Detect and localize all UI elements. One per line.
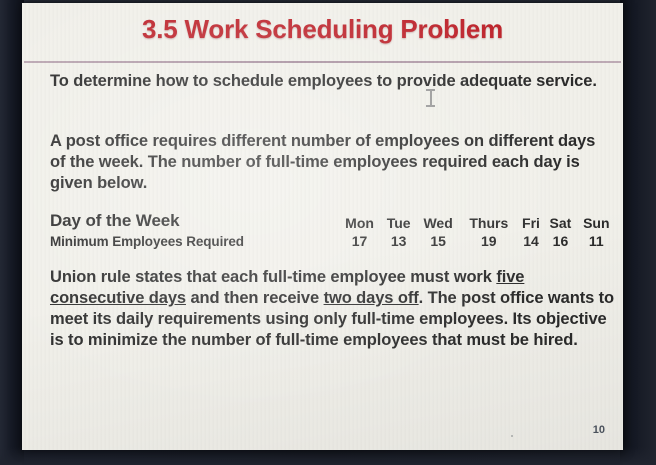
value-sun: 11 <box>577 233 616 249</box>
paragraph-intro: To determine how to schedule employees t… <box>50 71 610 92</box>
day-header-tue: Tue <box>381 211 416 233</box>
requirements-table-grid: Day of the Week Mon Tue Wed Thurs Fri Sa… <box>50 211 616 249</box>
union-rule-text-part2: and then receive <box>186 289 324 307</box>
row-label-minimum-employees-required: Minimum Employees Required <box>50 233 338 249</box>
title-divider-rule <box>24 61 621 63</box>
union-rule-emphasis-two-days-off: two days off <box>324 289 419 307</box>
day-header-sat: Sat <box>544 211 576 233</box>
day-header-wed: Wed <box>416 211 460 233</box>
paragraph-problem-statement: A post office requires different number … <box>50 131 610 194</box>
slide-title: 3.5 Work Scheduling Problem <box>22 14 623 45</box>
day-header-fri: Fri <box>518 211 545 233</box>
ibeam-stem <box>430 90 432 106</box>
value-mon: 17 <box>338 233 381 249</box>
bezel-right-edge <box>620 0 656 465</box>
paragraph-union-rule: Union rule states that each full-time em… <box>50 267 616 351</box>
union-rule-text-part1: Union rule states that each full-time em… <box>50 268 496 286</box>
day-header-mon: Mon <box>338 211 381 233</box>
table-row-day-of-week: Day of the Week Mon Tue Wed Thurs Fri Sa… <box>50 211 616 233</box>
value-wed: 15 <box>416 233 460 249</box>
value-fri: 14 <box>518 233 545 249</box>
day-header-thurs: Thurs <box>460 211 518 233</box>
value-sat: 16 <box>544 233 576 249</box>
projected-slide-photo: 3.5 Work Scheduling Problem To determine… <box>0 0 656 465</box>
dust-speck <box>511 435 513 437</box>
bezel-left-edge <box>0 0 24 465</box>
requirements-table: Day of the Week Mon Tue Wed Thurs Fri Sa… <box>50 211 616 249</box>
ibeam-cap-bottom <box>426 105 435 107</box>
slide-surface: 3.5 Work Scheduling Problem To determine… <box>22 3 623 450</box>
day-header-sun: Sun <box>577 211 616 233</box>
value-tue: 13 <box>381 233 416 249</box>
table-row-minimum-employees: Minimum Employees Required 17 13 15 19 1… <box>50 233 616 249</box>
value-thurs: 19 <box>460 233 518 249</box>
slide-page-number: 10 <box>593 424 605 436</box>
row-label-day-of-week: Day of the Week <box>50 211 338 233</box>
